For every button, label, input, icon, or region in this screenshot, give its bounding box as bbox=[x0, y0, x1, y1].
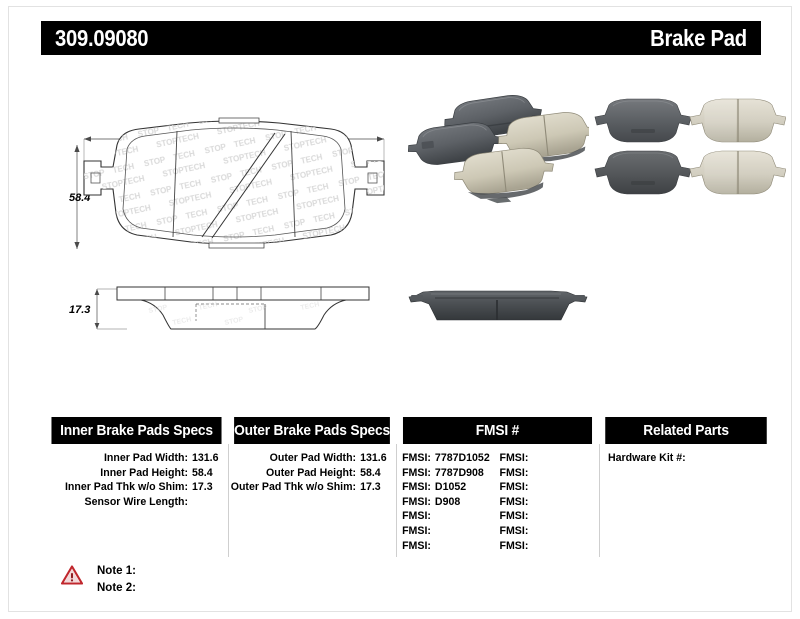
fmsi-label: FMSI: bbox=[500, 481, 529, 493]
fmsi-label: FMSI: bbox=[500, 525, 529, 537]
fmsi-row: FMSI: bbox=[500, 524, 597, 539]
brake-pad-edge-outline: STOP TECH STOP TECH TECH STOP bbox=[117, 287, 369, 329]
notes-section: Note 1: Note 2: bbox=[61, 563, 136, 597]
fmsi-label: FMSI: bbox=[402, 540, 431, 552]
fmsi-row: FMSI: bbox=[500, 451, 597, 466]
spec-sheet-page: 309.09080 Brake Pad STOP TECH STOPTECH bbox=[8, 6, 792, 612]
fmsi-label: FMSI: bbox=[500, 510, 529, 522]
cad-side-view: 17.3 STOP TECH bbox=[69, 277, 399, 355]
spec-row: Outer Pad Width: 131.6 bbox=[230, 451, 394, 466]
fmsi-label: FMSI: bbox=[500, 452, 529, 464]
fmsi-row: FMSI: bbox=[500, 480, 597, 495]
spec-row: Inner Pad Height: 58.4 bbox=[47, 466, 226, 481]
fmsi-value: D908 bbox=[435, 496, 460, 508]
fmsi-label: FMSI: bbox=[402, 525, 431, 537]
spec-label: Outer Pad Width: bbox=[230, 451, 360, 466]
warning-triangle-icon bbox=[61, 565, 83, 585]
spec-value bbox=[192, 495, 226, 510]
fmsi-body: FMSI:7787D1052 FMSI:7787D908 FMSI:D1052 … bbox=[398, 444, 597, 553]
spec-row: Inner Pad Thk w/o Shim: 17.3 bbox=[47, 480, 226, 495]
related-parts-body: Hardware Kit #: bbox=[601, 444, 771, 466]
spec-row: Inner Pad Width: 131.6 bbox=[47, 451, 226, 466]
spec-value: 131.6 bbox=[192, 451, 226, 466]
brake-pad-outline bbox=[69, 109, 399, 269]
notes-text: Note 1: Note 2: bbox=[97, 563, 136, 597]
spec-label: Inner Pad Width: bbox=[47, 451, 192, 466]
cad-front-view: STOP TECH STOPTECH 131.6 bbox=[69, 109, 399, 269]
pad-photo-item bbox=[595, 99, 691, 142]
spec-table: Inner Brake Pads Specs Inner Pad Width: … bbox=[47, 417, 771, 557]
fmsi-row: FMSI:7787D908 bbox=[402, 466, 499, 481]
pad-photo-item bbox=[595, 151, 691, 194]
brake-pad-edge-photo bbox=[401, 274, 596, 339]
fmsi-label: FMSI: bbox=[402, 467, 431, 479]
brake-pad-set-flat-photo bbox=[581, 91, 786, 201]
outer-specs-header: Outer Brake Pads Specs bbox=[234, 417, 390, 444]
spec-row: Sensor Wire Length: bbox=[47, 495, 226, 510]
outer-specs-body: Outer Pad Width: 131.6 Outer Pad Height:… bbox=[230, 444, 394, 495]
fmsi-label: FMSI: bbox=[402, 496, 431, 508]
fmsi-value: D1052 bbox=[435, 481, 466, 493]
inner-specs-body: Inner Pad Width: 131.6 Inner Pad Height:… bbox=[47, 444, 226, 509]
header-bar: 309.09080 Brake Pad bbox=[41, 21, 761, 55]
pad-photo-item bbox=[409, 291, 587, 320]
fmsi-row: FMSI:D908 bbox=[402, 495, 499, 510]
spec-row: Outer Pad Height: 58.4 bbox=[230, 466, 394, 481]
spec-label: Sensor Wire Length: bbox=[47, 495, 192, 510]
brake-pad-set-angled-photo bbox=[404, 89, 589, 214]
fmsi-label: FMSI: bbox=[402, 481, 431, 493]
inner-specs-header: Inner Brake Pads Specs bbox=[51, 417, 221, 444]
related-parts-row: Hardware Kit #: bbox=[608, 451, 771, 466]
spec-label: Outer Pad Thk w/o Shim: bbox=[230, 480, 360, 495]
spec-value: 58.4 bbox=[192, 466, 226, 481]
drawing-area: STOP TECH STOPTECH 131.6 bbox=[29, 69, 773, 399]
fmsi-label: FMSI: bbox=[500, 467, 529, 479]
part-number: 309.09080 bbox=[55, 27, 148, 50]
spec-value: 17.3 bbox=[360, 480, 394, 495]
note-item: Note 2: bbox=[97, 580, 136, 597]
inner-specs-column: Inner Brake Pads Specs Inner Pad Width: … bbox=[47, 417, 226, 557]
outer-specs-column: Outer Brake Pads Specs Outer Pad Width: … bbox=[230, 417, 394, 557]
spec-label: Inner Pad Height: bbox=[47, 466, 192, 481]
fmsi-label: FMSI: bbox=[402, 452, 431, 464]
fmsi-row: FMSI: bbox=[500, 539, 597, 554]
fmsi-row: FMSI:D1052 bbox=[402, 480, 499, 495]
related-parts-header: Related Parts bbox=[605, 417, 767, 444]
fmsi-right-subcolumn: FMSI: FMSI: FMSI: FMSI: FMSI: FMSI: FMSI… bbox=[500, 451, 597, 553]
spec-value: 17.3 bbox=[192, 480, 226, 495]
fmsi-label: FMSI: bbox=[500, 540, 529, 552]
fmsi-row: FMSI: bbox=[402, 509, 499, 524]
fmsi-row: FMSI: bbox=[500, 509, 597, 524]
fmsi-label: FMSI: bbox=[402, 510, 431, 522]
thickness-dimension-label: 17.3 bbox=[69, 304, 90, 316]
fmsi-left-subcolumn: FMSI:7787D1052 FMSI:7787D908 FMSI:D1052 … bbox=[402, 451, 499, 553]
spec-row: Outer Pad Thk w/o Shim: 17.3 bbox=[230, 480, 394, 495]
related-parts-column: Related Parts Hardware Kit #: bbox=[601, 417, 771, 557]
fmsi-value: 7787D1052 bbox=[435, 452, 490, 464]
fmsi-header: FMSI # bbox=[403, 417, 592, 444]
note-item: Note 1: bbox=[97, 563, 136, 580]
fmsi-column: FMSI # FMSI:7787D1052 FMSI:7787D908 FMSI… bbox=[398, 417, 597, 557]
spec-value: 58.4 bbox=[360, 466, 394, 481]
pad-photo-item bbox=[690, 99, 786, 142]
fmsi-row: FMSI: bbox=[402, 524, 499, 539]
fmsi-row: FMSI: bbox=[500, 466, 597, 481]
spec-label: Outer Pad Height: bbox=[230, 466, 360, 481]
fmsi-value: 7787D908 bbox=[435, 467, 484, 479]
fmsi-row: FMSI: bbox=[500, 495, 597, 510]
product-type-title: Brake Pad bbox=[650, 27, 747, 50]
spec-label: Inner Pad Thk w/o Shim: bbox=[47, 480, 192, 495]
fmsi-row: FMSI:7787D1052 bbox=[402, 451, 499, 466]
fmsi-label: FMSI: bbox=[500, 496, 529, 508]
pad-photo-item bbox=[690, 151, 786, 194]
spec-value: 131.6 bbox=[360, 451, 394, 466]
fmsi-row: FMSI: bbox=[402, 539, 499, 554]
